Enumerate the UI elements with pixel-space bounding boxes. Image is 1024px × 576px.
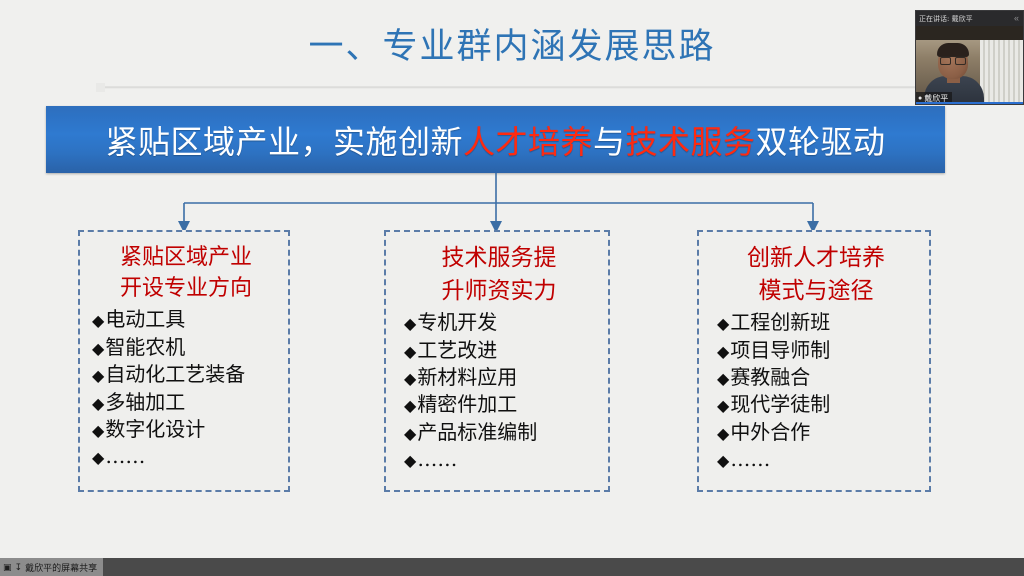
diamond-bullet-icon: ◆ <box>717 314 729 333</box>
active-speaker-label: 正在讲话: 戴欣平 <box>919 14 973 24</box>
diamond-bullet-icon: ◆ <box>717 451 729 470</box>
list-item-label: 精密件加工 <box>417 392 517 416</box>
list-item: ◆…… <box>404 446 600 473</box>
list-item: ◆精密件加工 <box>404 391 600 418</box>
pillar-box-2: 技术服务提 升师资实力 ◆专机开发 ◆工艺改进 ◆新材料应用 ◆精密件加工 ◆产… <box>384 230 610 492</box>
banner-highlight-text: 技术服务 <box>626 123 756 161</box>
diamond-bullet-icon: ◆ <box>92 311 104 330</box>
list-item: ◆专机开发 <box>404 309 600 336</box>
bottom-status-bar: ▣ ↧ 戴欣平的屏幕共享 <box>0 558 1024 576</box>
list-item-label: 现代学徒制 <box>730 392 830 416</box>
list-item: ◆智能农机 <box>92 334 280 361</box>
video-feed[interactable]: ● 戴欣平 <box>916 26 1023 105</box>
banner-plain-text: 紧贴区域产业，实施创新 <box>105 123 463 161</box>
connector-arrows <box>0 173 1024 235</box>
list-item-label: 智能农机 <box>105 335 185 359</box>
list-item-label: …… <box>105 444 145 468</box>
list-item: ◆自动化工艺装备 <box>92 361 280 388</box>
headline-banner: 紧贴区域产业，实施创新人才培养与技术服务双轮驱动 <box>46 106 945 173</box>
list-item: ◆赛教融合 <box>717 364 921 391</box>
video-ceiling-shadow <box>916 26 1023 40</box>
pillar-box-1-title: 紧贴区域产业 开设专业方向 <box>92 242 280 304</box>
headline-banner-text: 紧贴区域产业，实施创新人才培养与技术服务双轮驱动 <box>105 117 885 163</box>
video-accent-bar <box>916 102 1023 105</box>
pillar-box-2-list: ◆专机开发 ◆工艺改进 ◆新材料应用 ◆精密件加工 ◆产品标准编制 ◆…… <box>398 309 600 473</box>
list-item-label: 赛教融合 <box>730 365 810 389</box>
diamond-bullet-icon: ◆ <box>404 396 416 415</box>
list-item-label: 数字化设计 <box>105 417 205 441</box>
banner-highlight-text: 人才培养 <box>463 123 593 161</box>
list-item: ◆数字化设计 <box>92 416 280 443</box>
list-item-label: 工艺改进 <box>417 338 497 362</box>
list-item: ◆新材料应用 <box>404 364 600 391</box>
list-item: ◆多轴加工 <box>92 389 280 416</box>
list-item-label: 自动化工艺装备 <box>105 362 245 386</box>
pillar-box-3-title: 创新人才培养 模式与途径 <box>711 242 921 307</box>
diamond-bullet-icon: ◆ <box>404 342 416 361</box>
list-item: ◆工程创新班 <box>717 309 921 336</box>
diamond-bullet-icon: ◆ <box>404 424 416 443</box>
diamond-bullet-icon: ◆ <box>717 369 729 388</box>
diamond-bullet-icon: ◆ <box>717 424 729 443</box>
diamond-bullet-icon: ◆ <box>92 448 104 467</box>
zoom-screen-share-window: 一、专业群内涵发展思路 紧贴区域产业，实施创新人才培养与技术服务双轮驱动 紧贴区… <box>0 0 1024 576</box>
pillar-box-2-title: 技术服务提 升师资实力 <box>398 242 600 307</box>
screen-share-indicator[interactable]: ▣ ↧ 戴欣平的屏幕共享 <box>0 558 103 576</box>
list-item-label: 新材料应用 <box>417 365 517 389</box>
screen-share-label: 戴欣平的屏幕共享 <box>25 561 97 574</box>
list-item: ◆工艺改进 <box>404 337 600 364</box>
speaker-video-thumbnail[interactable]: 正在讲话: 戴欣平 « ● 戴欣平 <box>915 10 1024 105</box>
title-divider-cap <box>96 83 105 92</box>
diamond-bullet-icon: ◆ <box>717 396 729 415</box>
video-thumbnail-header: 正在讲话: 戴欣平 « <box>916 11 1023 26</box>
list-item: ◆电动工具 <box>92 306 280 333</box>
list-item: ◆…… <box>717 446 921 473</box>
page-title: 一、专业群内涵发展思路 <box>0 18 1024 69</box>
list-item-label: 电动工具 <box>105 307 185 331</box>
diamond-bullet-icon: ◆ <box>404 314 416 333</box>
list-item: ◆现代学徒制 <box>717 391 921 418</box>
list-item: ◆中外合作 <box>717 419 921 446</box>
presentation-slide: 一、专业群内涵发展思路 紧贴区域产业，实施创新人才培养与技术服务双轮驱动 紧贴区… <box>0 0 1024 558</box>
banner-plain-text: 与 <box>593 123 626 161</box>
list-item: ◆产品标准编制 <box>404 419 600 446</box>
collapse-chevron-icon[interactable]: « <box>1014 13 1019 24</box>
banner-plain-text: 双轮驱动 <box>756 123 886 161</box>
diamond-bullet-icon: ◆ <box>92 366 104 385</box>
list-item-label: 项目导师制 <box>730 338 830 362</box>
pillar-box-3-list: ◆工程创新班 ◆项目导师制 ◆赛教融合 ◆现代学徒制 ◆中外合作 ◆…… <box>711 309 921 473</box>
diamond-bullet-icon: ◆ <box>92 421 104 440</box>
pillar-box-1-list: ◆电动工具 ◆智能农机 ◆自动化工艺装备 ◆多轴加工 ◆数字化设计 ◆…… <box>92 306 280 470</box>
pillar-box-3: 创新人才培养 模式与途径 ◆工程创新班 ◆项目导师制 ◆赛教融合 ◆现代学徒制 … <box>697 230 931 492</box>
list-item-label: 专机开发 <box>417 310 497 334</box>
list-item: ◆项目导师制 <box>717 337 921 364</box>
pillar-box-1: 紧贴区域产业 开设专业方向 ◆电动工具 ◆智能农机 ◆自动化工艺装备 ◆多轴加工… <box>78 230 290 492</box>
list-item-label: 工程创新班 <box>730 310 830 334</box>
list-item-label: …… <box>417 447 457 471</box>
diamond-bullet-icon: ◆ <box>92 339 104 358</box>
person-glasses <box>940 56 966 62</box>
person-hair <box>937 43 969 57</box>
diamond-bullet-icon: ◆ <box>404 451 416 470</box>
diamond-bullet-icon: ◆ <box>92 394 104 413</box>
list-item: ◆…… <box>92 443 280 470</box>
list-item-label: 多轴加工 <box>105 390 185 414</box>
list-item-label: 产品标准编制 <box>417 420 537 444</box>
title-divider <box>96 86 932 89</box>
diamond-bullet-icon: ◆ <box>404 369 416 388</box>
mic-icon: ↧ <box>15 562 23 573</box>
list-item-label: …… <box>730 447 770 471</box>
monitor-icon: ▣ <box>3 562 12 573</box>
diamond-bullet-icon: ◆ <box>717 342 729 361</box>
list-item-label: 中外合作 <box>730 420 810 444</box>
